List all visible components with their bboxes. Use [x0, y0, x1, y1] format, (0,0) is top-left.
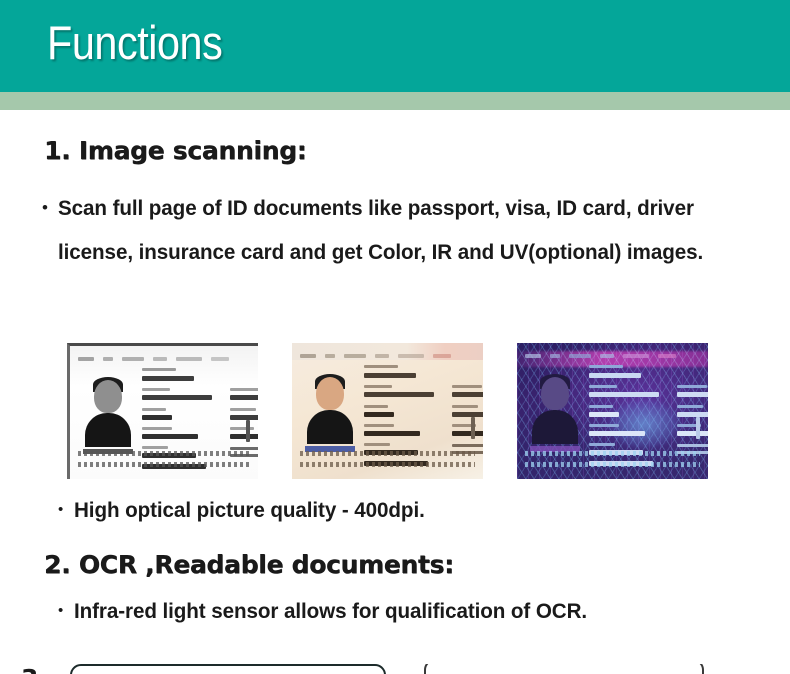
sample-image-ir-grayscale — [67, 343, 258, 479]
data-fields — [142, 368, 248, 445]
section-heading-image-scanning: 1. Image scanning: — [44, 136, 306, 165]
data-fields — [364, 365, 473, 445]
bullet-icon: • — [58, 492, 74, 528]
bullet-scan-full-page: • Scan full page of ID documents like pa… — [42, 186, 762, 274]
bullet-optical-quality-text: High optical picture quality - 400dpi. — [74, 492, 425, 528]
bullet-icon: • — [58, 593, 74, 629]
bullet-infrared-sensor: • Infra-red light sensor allows for qual… — [58, 593, 608, 629]
portrait-photo — [530, 370, 580, 444]
doc-header-strip — [525, 349, 702, 362]
id-page-grayscale — [67, 343, 258, 479]
bottom-cutoff-row: 3. MRZ — [0, 664, 790, 674]
bullet-optical-quality: • High optical picture quality - 400dpi. — [58, 492, 439, 528]
section-heading-3: 3. — [21, 664, 48, 674]
id-page-color — [292, 343, 483, 479]
doc-header-strip — [300, 349, 477, 362]
mrz-zone — [300, 451, 475, 473]
side-marker — [471, 417, 475, 439]
doc-header-strip — [78, 352, 252, 365]
page-title: Functions — [47, 19, 222, 66]
header-accent-stripe — [0, 92, 790, 110]
id-page-uv — [517, 343, 708, 479]
bullet-icon: • — [42, 186, 58, 230]
bullet-scan-text: Scan full page of ID documents like pass… — [58, 186, 730, 274]
portrait-photo — [83, 373, 133, 447]
mrz-zone — [78, 451, 250, 473]
sample-image-color — [292, 343, 483, 479]
mrz-callout-box[interactable]: MRZ — [70, 664, 386, 674]
mrz-zone — [525, 451, 700, 473]
side-marker — [696, 417, 700, 439]
side-marker — [246, 420, 250, 442]
bullet-infrared-sensor-text: Infra-red light sensor allows for qualif… — [74, 593, 587, 629]
document-sample-gallery — [0, 343, 790, 479]
data-fields — [589, 365, 698, 445]
secondary-callout-box[interactable] — [424, 664, 704, 674]
portrait-photo — [305, 370, 355, 444]
section-heading-ocr: 2. OCR ,Readable documents: — [44, 550, 454, 579]
sample-image-uv — [517, 343, 708, 479]
